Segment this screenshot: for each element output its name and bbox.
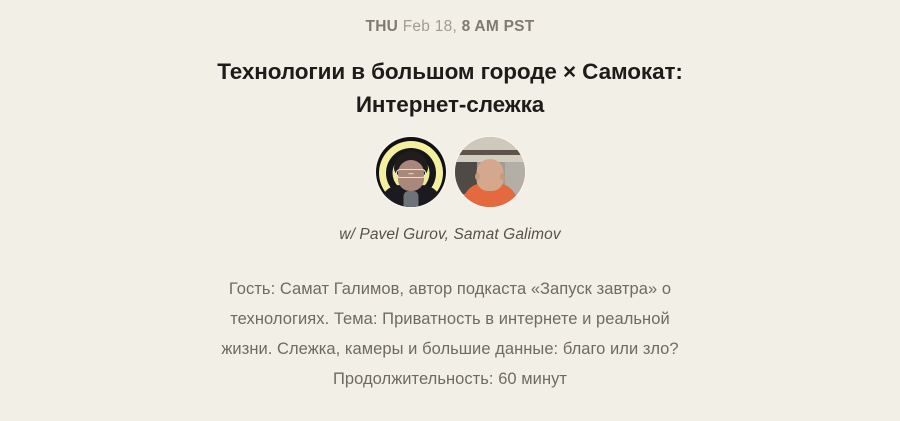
description-line: большие данные: благо или зло? bbox=[422, 340, 679, 358]
person-ear-right bbox=[500, 173, 505, 180]
glasses-icon bbox=[396, 169, 426, 178]
person-shirt bbox=[403, 191, 418, 207]
wall-band-top bbox=[455, 137, 525, 150]
event-description: Гость: Самат Галимов, автор подкаста «За… bbox=[215, 274, 685, 394]
event-title-line-2: Интернет-слежка bbox=[356, 92, 544, 117]
event-title-line-1: Технологии в большом городе × Самокат: bbox=[217, 59, 683, 84]
person-head bbox=[476, 159, 503, 191]
host-credit: w/ Pavel Gurov, Samat Galimov bbox=[339, 226, 560, 244]
event-date: Feb 18, bbox=[403, 18, 457, 35]
event-datetime: THU Feb 18, 8 AM PST bbox=[366, 17, 535, 37]
event-title: Технологии в большом городе × Самокат: И… bbox=[217, 55, 683, 121]
description-duration: Продолжительность: 60 минут bbox=[333, 370, 567, 388]
description-line: Гость: Самат Галимов, автор подкаста «За… bbox=[229, 280, 592, 298]
avatar-group bbox=[376, 137, 525, 207]
event-weekday: THU bbox=[366, 18, 399, 35]
event-announcement-card: THU Feb 18, 8 AM PST Технологии в большо… bbox=[0, 0, 900, 421]
avatar-pavel-gurov[interactable] bbox=[376, 137, 446, 207]
avatar-samat-galimov[interactable] bbox=[455, 137, 525, 207]
event-time: 8 AM PST bbox=[462, 18, 535, 35]
person-ear-left bbox=[475, 173, 480, 180]
